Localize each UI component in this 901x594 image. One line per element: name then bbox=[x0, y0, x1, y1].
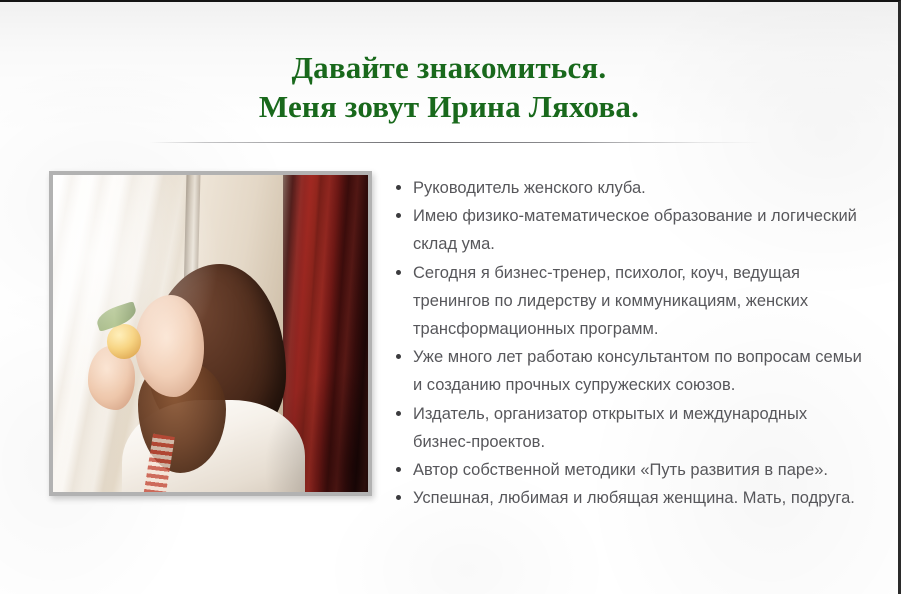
photo-light-bloom bbox=[53, 175, 368, 492]
list-item: Руководитель женского клуба. bbox=[393, 174, 865, 202]
page-title-line-2: Меня зовут Ирина Ляхова. bbox=[0, 87, 898, 126]
portrait-photo bbox=[53, 175, 368, 492]
list-item: Автор собственной методики «Путь развити… bbox=[393, 456, 865, 484]
list-item: Сегодня я бизнес-тренер, психолог, коуч,… bbox=[393, 259, 865, 344]
bio-bullet-list: Руководитель женского клуба. Имею физико… bbox=[393, 174, 865, 512]
list-item: Уже много лет работаю консультантом по в… bbox=[393, 343, 865, 399]
slide-page: Давайте знакомиться. Меня зовут Ирина Ля… bbox=[0, 0, 901, 594]
list-item: Издатель, организатор открытых и междуна… bbox=[393, 400, 865, 456]
page-title: Давайте знакомиться. Меня зовут Ирина Ля… bbox=[0, 48, 898, 126]
page-title-line-1: Давайте знакомиться. bbox=[0, 48, 898, 87]
list-item: Успешная, любимая и любящая женщина. Мат… bbox=[393, 484, 865, 512]
list-item: Имею физико-математическое образование и… bbox=[393, 202, 865, 258]
portrait-photo-frame bbox=[49, 171, 372, 496]
title-divider bbox=[150, 142, 762, 143]
